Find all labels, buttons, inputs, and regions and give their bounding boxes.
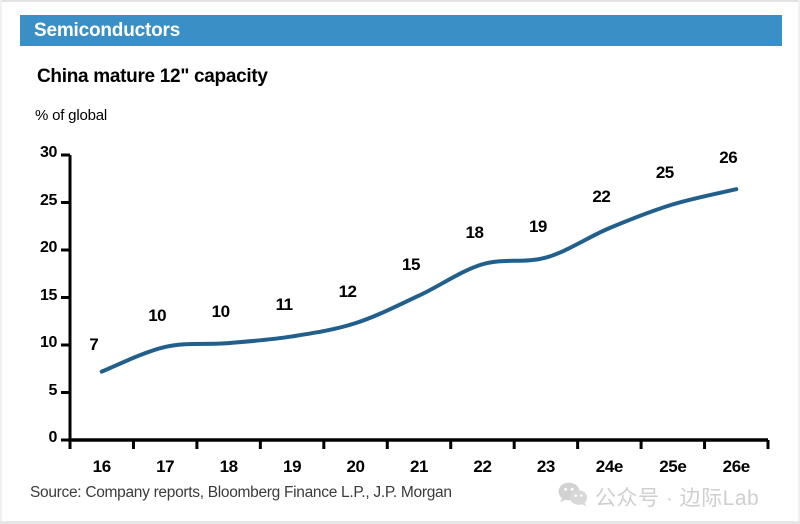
watermark-text: 公众号 · 边际Lab <box>595 482 759 512</box>
x-axis-tick-label: 24e <box>581 457 637 477</box>
x-axis-tick-label: 18 <box>201 457 257 477</box>
y-axis-tick-label: 20 <box>21 239 57 257</box>
data-point-label: 10 <box>199 302 243 322</box>
data-point-label: 10 <box>135 306 179 326</box>
y-axis-tick-label: 0 <box>21 429 57 447</box>
x-axis-tick-label: 20 <box>328 457 384 477</box>
wechat-icon <box>558 482 588 512</box>
data-point-label: 19 <box>516 217 560 237</box>
x-axis-tick-label: 26e <box>708 457 764 477</box>
x-axis-tick-label: 23 <box>518 457 574 477</box>
chart-subtitle-units: % of global <box>35 107 107 124</box>
data-point-label: 7 <box>72 335 116 355</box>
y-axis-tick-label: 30 <box>21 144 57 162</box>
chart-title: China mature 12" capacity <box>37 66 268 88</box>
data-point-label: 11 <box>262 295 306 315</box>
data-point-label: 12 <box>326 282 370 302</box>
watermark: 公众号 · 边际Lab <box>558 482 759 512</box>
page-border-top <box>0 0 800 2</box>
source-note: Source: Company reports, Bloomberg Finan… <box>30 484 452 502</box>
x-axis-tick-label: 22 <box>454 457 510 477</box>
y-axis-tick-label: 25 <box>21 192 57 210</box>
page-border-left <box>0 0 2 524</box>
data-point-label: 15 <box>389 255 433 275</box>
data-point-label: 26 <box>706 148 750 168</box>
data-point-label: 25 <box>643 163 687 183</box>
y-axis-tick-label: 10 <box>21 334 57 352</box>
section-banner: Semiconductors <box>20 15 782 46</box>
chart-page: Semiconductors China mature 12" capacity… <box>0 0 800 524</box>
y-axis-tick-label: 15 <box>21 287 57 305</box>
chart-axes <box>61 155 768 449</box>
x-axis-tick-label: 21 <box>391 457 447 477</box>
x-axis-tick-label: 19 <box>264 457 320 477</box>
x-axis-tick-label: 25e <box>645 457 701 477</box>
section-banner-title: Semiconductors <box>20 20 180 42</box>
chart-series-line <box>102 189 737 371</box>
data-point-label: 18 <box>452 223 496 243</box>
x-axis-tick-label: 16 <box>74 457 130 477</box>
y-axis-tick-label: 5 <box>21 382 57 400</box>
data-point-label: 22 <box>579 187 623 207</box>
x-axis-tick-label: 17 <box>137 457 193 477</box>
